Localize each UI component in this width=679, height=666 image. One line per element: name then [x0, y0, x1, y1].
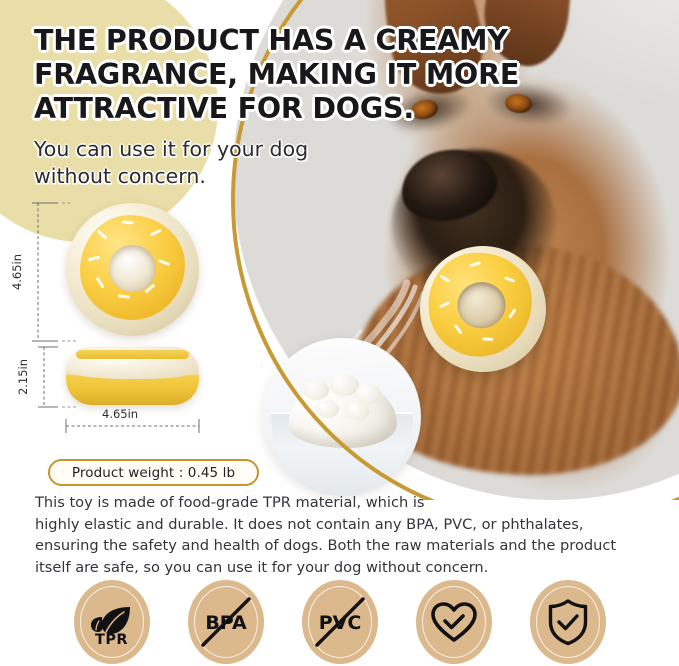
- description-line-2: highly elastic and durable. It does not …: [35, 514, 660, 536]
- badge-shield-check: [530, 580, 606, 664]
- badge-tpr: TPR: [74, 580, 150, 664]
- dimension-thickness-label: 2.15in: [16, 353, 30, 401]
- cream-dollop: [315, 400, 339, 418]
- cream-dollop: [355, 384, 381, 404]
- dimension-height-label: 4.65in: [10, 248, 24, 296]
- product-infographic: THE PRODUCT HAS A CREAMY FRAGRANCE, MAKI…: [0, 0, 679, 666]
- cream-bowl-inset: [263, 338, 421, 496]
- product-description: This toy is made of food-grade TPR mater…: [35, 492, 660, 578]
- no-pvc-icon: PVC: [309, 591, 371, 653]
- subheadline: You can use it for your dog without conc…: [34, 136, 364, 191]
- description-line-1: This toy is made of food-grade TPR mater…: [35, 492, 660, 514]
- page-title: THE PRODUCT HAS A CREAMY FRAGRANCE, MAKI…: [34, 24, 594, 126]
- dimension-width-label: 4.65in: [102, 407, 138, 421]
- badge-bpa-free: BPA: [188, 580, 264, 664]
- badge-label-tpr: TPR: [74, 632, 150, 648]
- heart-check-icon: [430, 600, 478, 644]
- description-line-3: ensuring the safety and health of dogs. …: [35, 535, 660, 557]
- description-line-4: itself are safe, so you can use it for y…: [35, 557, 660, 579]
- badge-heart-check: [416, 580, 492, 664]
- no-bpa-icon: BPA: [195, 591, 257, 653]
- cream-dollop: [303, 380, 329, 400]
- shield-check-icon: [546, 598, 590, 646]
- certification-badges: TPR BPA PVC: [0, 578, 679, 666]
- cream-dollop: [345, 402, 369, 420]
- product-weight-badge: Product weight : 0.45 lb: [48, 459, 259, 486]
- product-dimension-diagram: 4.65in 2.15in 4.65in: [0, 195, 250, 455]
- badge-pvc-free: PVC: [302, 580, 378, 664]
